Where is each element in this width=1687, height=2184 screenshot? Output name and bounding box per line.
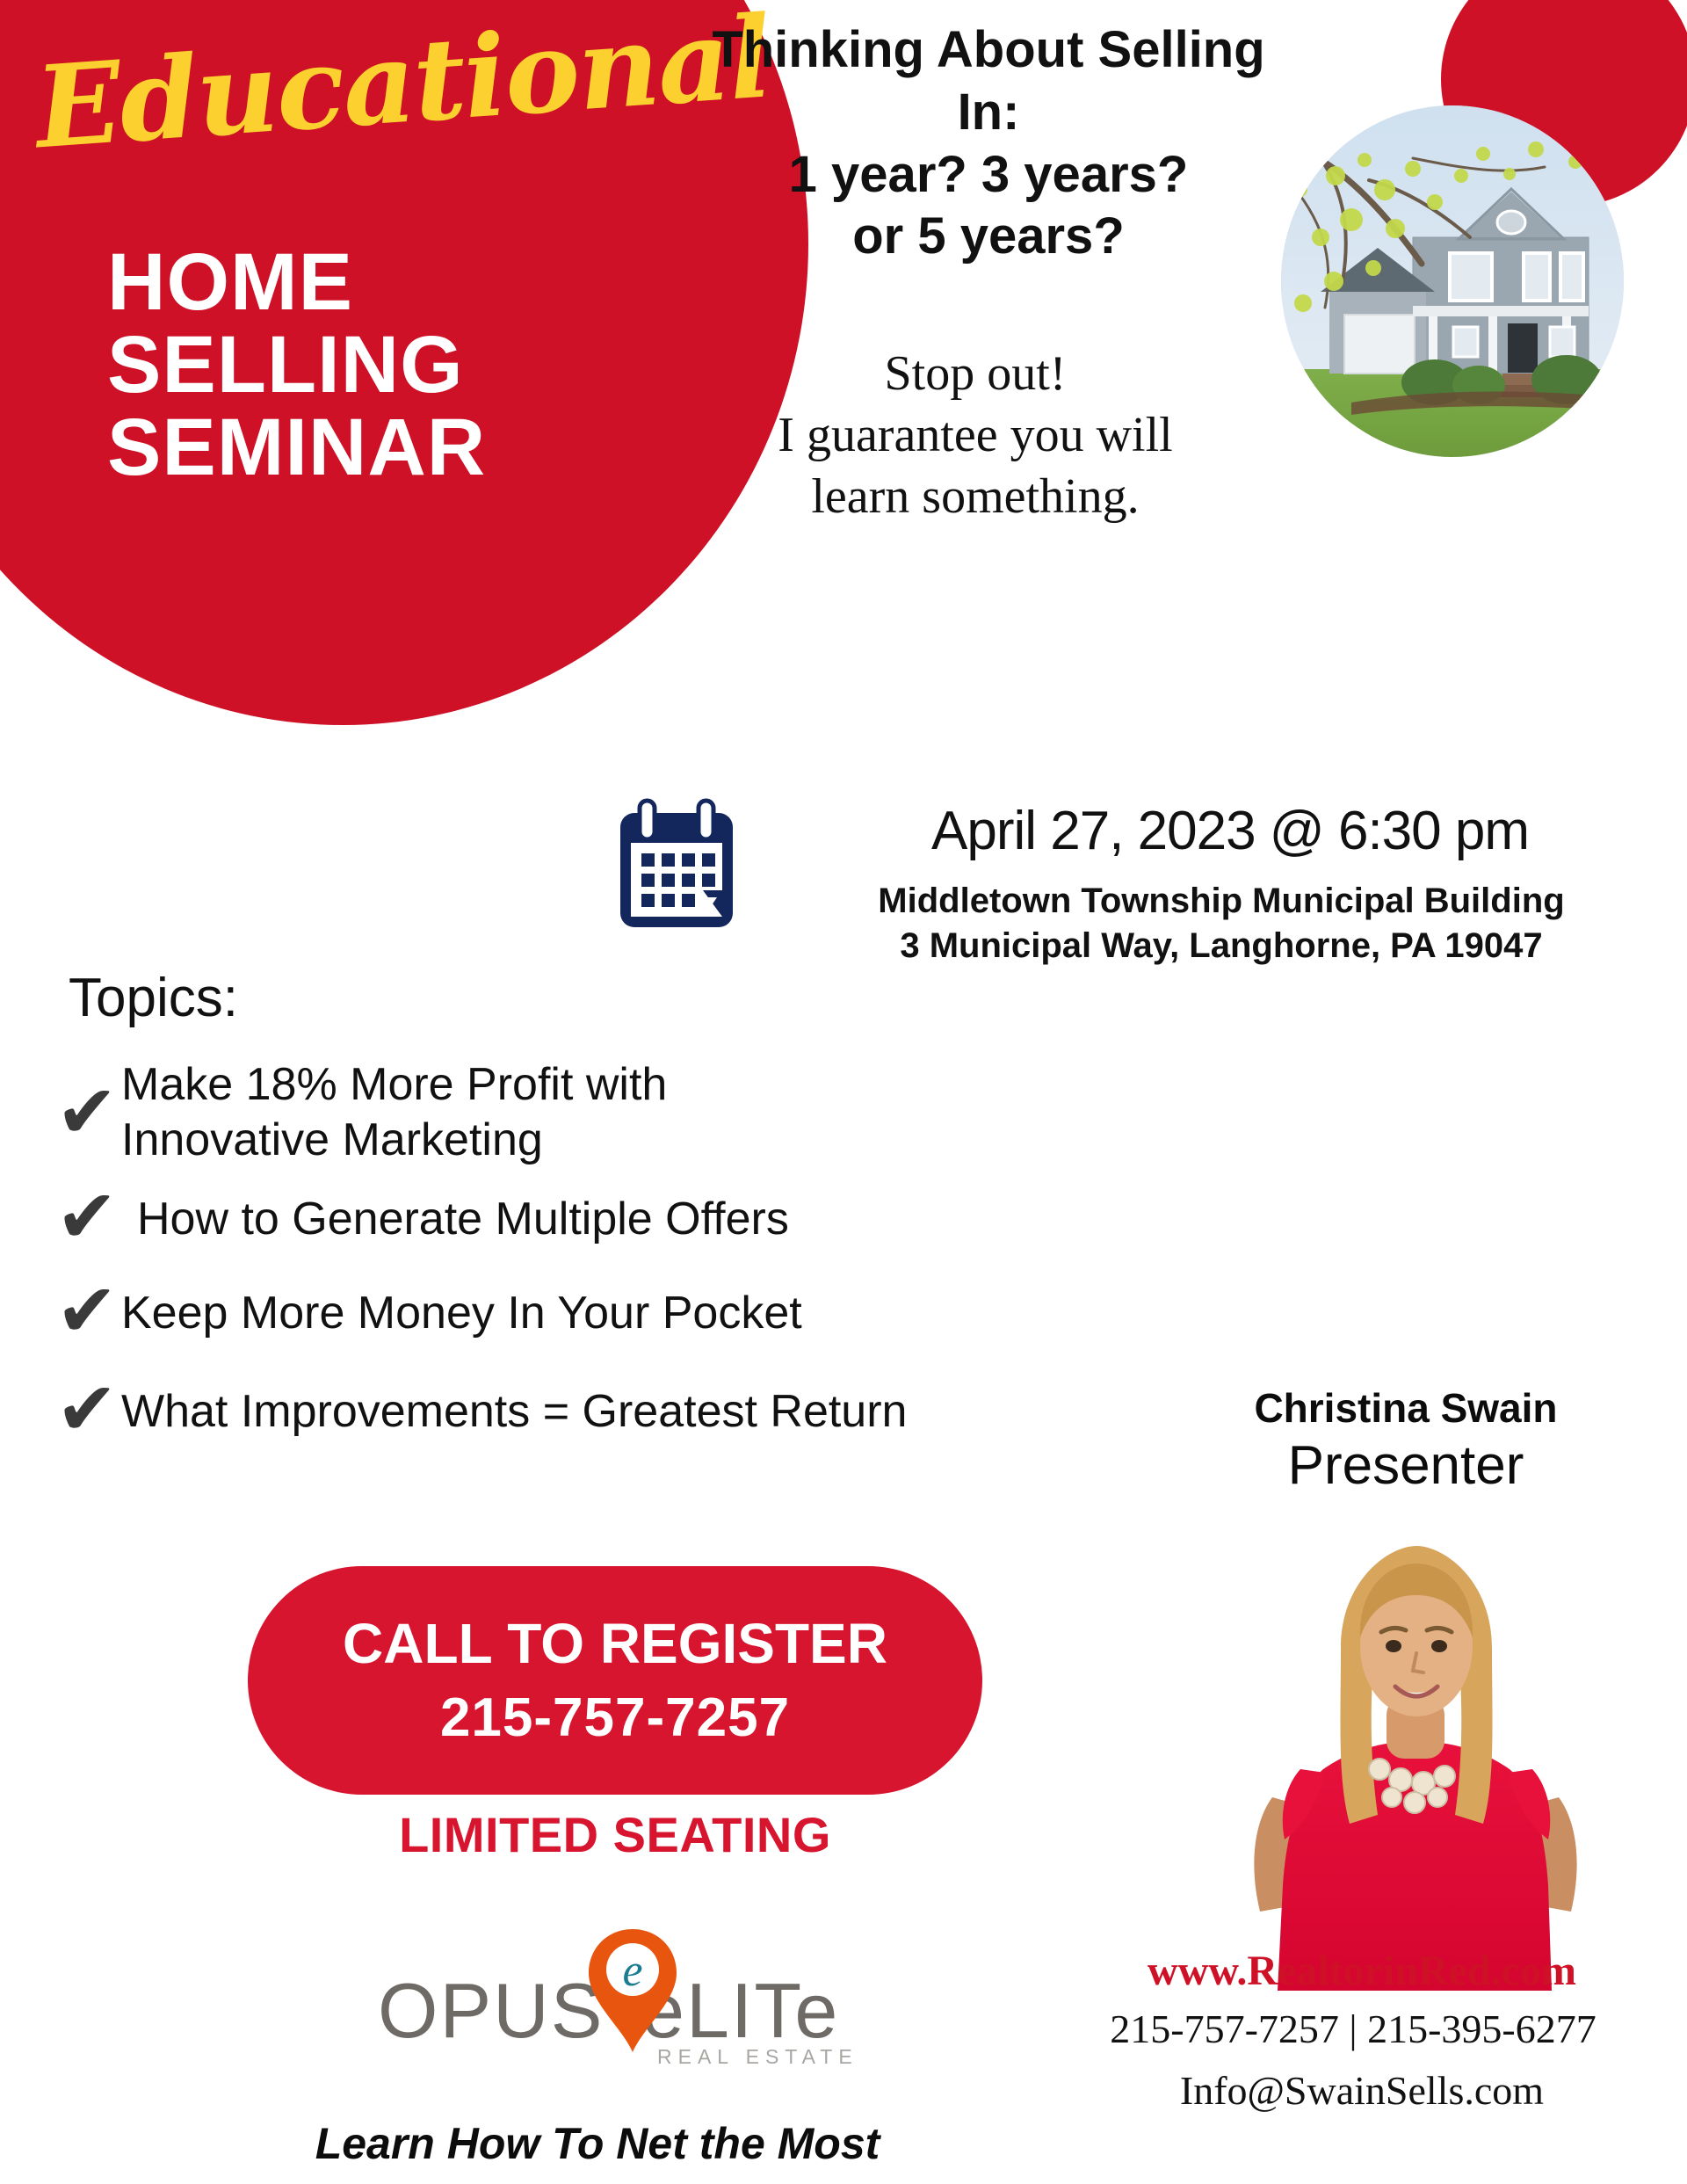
calendar-icon — [606, 795, 747, 940]
check-icon: ✔ — [53, 1185, 121, 1247]
cta-phone-number: 215-757-7257 — [440, 1688, 790, 1748]
title-line-2: SELLING — [107, 324, 486, 407]
flyer-page: Educational HOME SELLING SEMINAR Thinkin… — [0, 0, 1687, 2184]
presenter-role: Presenter — [1133, 1434, 1678, 1497]
house-photo — [1281, 105, 1624, 457]
guarantee-line-3: learn something. — [650, 466, 1300, 527]
page-title: HOME SELLING SEMINAR — [107, 242, 486, 489]
presenter-portrait — [1169, 1534, 1661, 1991]
hero-question: Thinking About Selling In: 1 year? 3 yea… — [677, 19, 1300, 268]
website-link[interactable]: www.RealtorinRed.com — [1037, 1947, 1687, 1995]
map-pin-icon: e — [580, 1924, 685, 2056]
call-to-register-button[interactable]: CALL TO REGISTER 215-757-7257 — [248, 1566, 982, 1795]
email-address[interactable]: Info@SwainSells.com — [1037, 2067, 1687, 2114]
topic-text: How to Generate Multiple Offers — [121, 1185, 789, 1247]
check-icon: ✔ — [53, 1050, 121, 1143]
topic-text-line-1: Make 18% More Profit with — [121, 1057, 667, 1113]
topic-item: ✔ Make 18% More Profit with Innovative M… — [53, 1050, 1151, 1169]
event-date: April 27, 2023 @ 6:30 pm — [773, 800, 1687, 862]
presenter-name: Christina Swain — [1133, 1384, 1678, 1432]
limited-seating-badge: LIMITED SEATING — [248, 1806, 982, 1863]
topic-item: ✔ Keep More Money In Your Pocket — [53, 1279, 1151, 1341]
topic-item: ✔ What Improvements = Greatest Return — [53, 1377, 1151, 1440]
footer-tagline: Learn How To Net the Most — [211, 2118, 984, 2169]
cta-label: CALL TO REGISTER — [343, 1613, 887, 1674]
topics-list: ✔ Make 18% More Profit with Innovative M… — [53, 1050, 1151, 1461]
check-icon: ✔ — [53, 1377, 121, 1440]
opus-elite-logo: OPUS eLITe REAL ESTATE e — [378, 1938, 870, 2079]
topic-item: ✔ How to Generate Multiple Offers — [53, 1185, 1151, 1247]
hero-question-line-2: 1 year? 3 years? — [677, 144, 1300, 207]
venue-address: 3 Municipal Way, Langhorne, PA 19047 — [756, 924, 1687, 969]
topic-text: Make 18% More Profit with Innovative Mar… — [121, 1050, 667, 1169]
hero-question-line-3: or 5 years? — [677, 206, 1300, 268]
title-line-1: HOME — [107, 242, 486, 324]
event-venue: Middletown Township Municipal Building 3… — [756, 879, 1687, 969]
logo-word-opus: OPUS — [378, 1966, 604, 2056]
guarantee-line-2: I guarantee you will — [650, 404, 1300, 466]
topics-heading: Topics: — [69, 967, 238, 1029]
hero-guarantee: Stop out! I guarantee you will learn som… — [650, 343, 1300, 527]
topic-text: What Improvements = Greatest Return — [121, 1377, 907, 1440]
title-line-3: SEMINAR — [107, 407, 486, 490]
svg-text:e: e — [622, 1946, 642, 1996]
logo-subtitle: REAL ESTATE — [657, 2045, 858, 2069]
topic-text-line-2: Innovative Marketing — [121, 1113, 667, 1168]
hero-question-line-1: Thinking About Selling In: — [677, 19, 1300, 144]
topic-text: Keep More Money In Your Pocket — [121, 1279, 802, 1341]
check-icon: ✔ — [53, 1279, 121, 1341]
guarantee-line-1: Stop out! — [650, 343, 1300, 404]
phone-numbers[interactable]: 215-757-7257 | 215-395-6277 — [1019, 2006, 1687, 2052]
venue-name: Middletown Township Municipal Building — [756, 879, 1687, 924]
